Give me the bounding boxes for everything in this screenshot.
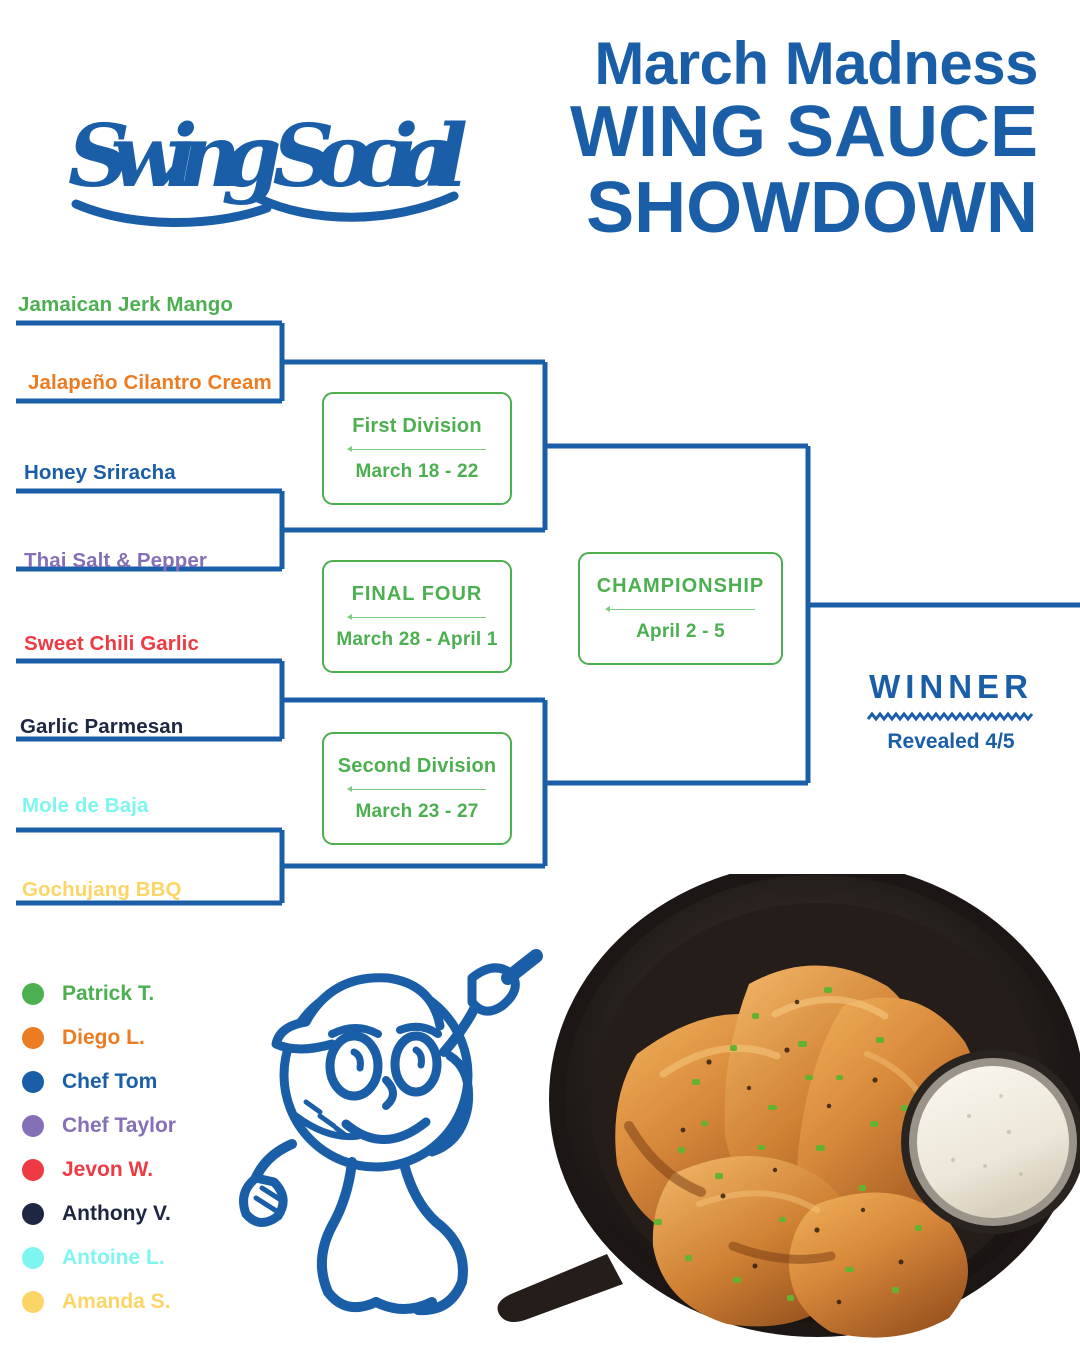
- legend-label: Jevon W.: [62, 1158, 153, 1182]
- legend-label: Chef Tom: [62, 1070, 157, 1094]
- round-dates: March 18 - 22: [356, 461, 479, 483]
- logo-wordmark: Swing Social: [68, 106, 468, 207]
- round-dates: April 2 - 5: [636, 621, 725, 643]
- title-line-2: WING SAUCE: [570, 97, 1038, 168]
- legend-item: Antoine L.: [22, 1236, 176, 1280]
- baseball-mascot: [236, 930, 566, 1330]
- poster-canvas: Swing Social March Madness WING SAUCE SH…: [0, 0, 1080, 1350]
- competitor-label-6: Garlic Parmesan: [20, 715, 183, 739]
- legend-color-dot: [22, 1291, 44, 1313]
- competitor-label-7: Mole de Baja: [22, 794, 149, 818]
- round-title: FINAL FOUR: [352, 583, 483, 606]
- legend-item: Anthony V.: [22, 1192, 176, 1236]
- wings-skillet-photo: [487, 874, 1080, 1350]
- round-box-first-division: First Division March 18 - 22: [322, 392, 512, 505]
- legend-label: Chef Taylor: [62, 1114, 176, 1138]
- legend-label: Diego L.: [62, 1026, 145, 1050]
- legend-color-dot: [22, 1115, 44, 1137]
- legend-label: Antoine L.: [62, 1246, 165, 1270]
- legend-label: Amanda S.: [62, 1290, 171, 1314]
- legend-color-dot: [22, 1159, 44, 1181]
- legend-item: Jevon W.: [22, 1148, 176, 1192]
- legend-item: Patrick T.: [22, 972, 176, 1016]
- legend-color-dot: [22, 1071, 44, 1093]
- legend-item: Amanda S.: [22, 1280, 176, 1324]
- page-title: March Madness WING SAUCE SHOWDOWN: [570, 34, 1038, 244]
- winner-block: WINNER Revealed 4/5: [836, 668, 1066, 754]
- competitor-label-2: Jalapeño Cilantro Cream: [28, 371, 272, 395]
- bracket-lines: [0, 270, 1080, 930]
- round-divider: [606, 609, 755, 610]
- competitor-label-3: Honey Sriracha: [24, 461, 176, 485]
- round-box-final-four: FINAL FOUR March 28 - April 1: [322, 560, 512, 673]
- round-dates: March 23 - 27: [356, 801, 479, 823]
- round-divider: [348, 789, 486, 790]
- legend-item: Diego L.: [22, 1016, 176, 1060]
- legend-label: Anthony V.: [62, 1202, 171, 1226]
- title-line-3: SHOWDOWN: [570, 173, 1038, 244]
- round-dates: March 28 - April 1: [336, 629, 497, 651]
- winner-subtitle: Revealed 4/5: [836, 730, 1066, 754]
- round-title: CHAMPIONSHIP: [597, 575, 765, 598]
- legend-color-dot: [22, 1027, 44, 1049]
- competitor-label-8: Gochujang BBQ: [22, 878, 182, 902]
- competitor-label-5: Sweet Chili Garlic: [24, 632, 199, 656]
- winner-title: WINNER: [836, 668, 1066, 706]
- competitor-label-4: Thai Salt & Pepper: [24, 549, 207, 573]
- title-line-1: March Madness: [570, 34, 1038, 93]
- judges-legend: Patrick T. Diego L. Chef Tom Chef Taylor…: [22, 972, 176, 1324]
- swing-social-logo: Swing Social: [62, 78, 472, 228]
- legend-color-dot: [22, 1247, 44, 1269]
- legend-color-dot: [22, 1203, 44, 1225]
- competitor-label-1: Jamaican Jerk Mango: [18, 293, 233, 317]
- round-box-championship: CHAMPIONSHIP April 2 - 5: [578, 552, 783, 665]
- round-title: Second Division: [338, 755, 497, 778]
- round-title: First Division: [352, 415, 482, 438]
- round-divider: [348, 617, 486, 618]
- legend-color-dot: [22, 983, 44, 1005]
- legend-item: Chef Taylor: [22, 1104, 176, 1148]
- winner-zigzag-underline: [836, 711, 1066, 722]
- legend-label: Patrick T.: [62, 982, 154, 1006]
- legend-item: Chef Tom: [22, 1060, 176, 1104]
- round-divider: [348, 449, 486, 450]
- round-box-second-division: Second Division March 23 - 27: [322, 732, 512, 845]
